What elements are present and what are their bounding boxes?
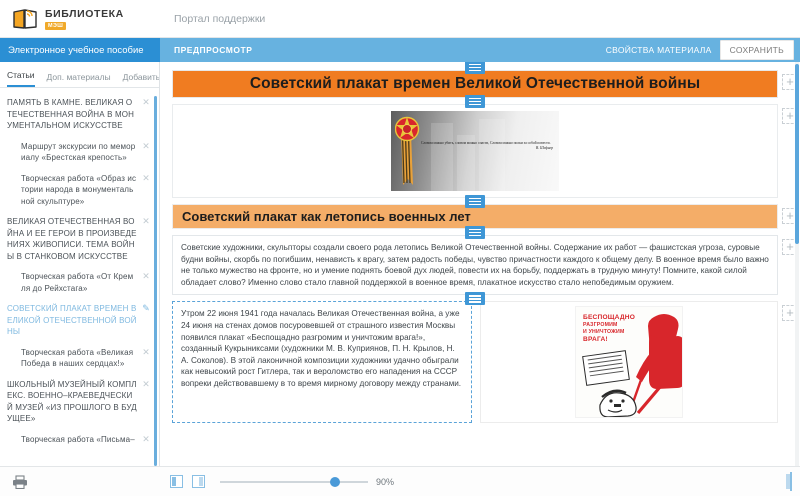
image-quote-source: В. Шефнер xyxy=(421,146,553,151)
close-icon[interactable]: ✕ xyxy=(141,173,151,183)
close-icon[interactable]: ✕ xyxy=(141,379,151,389)
preview-button[interactable]: ПРЕДПРОСМОТР xyxy=(174,45,252,55)
tree-item[interactable]: Творческая работа «Образ истории народа … xyxy=(7,173,153,208)
save-button[interactable]: СОХРАНИТЬ xyxy=(720,40,794,60)
poster-title-line-3: И УНИЧТОЖИМ xyxy=(583,329,624,335)
close-icon[interactable]: ✕ xyxy=(141,347,151,357)
block-menu-handle-icon[interactable] xyxy=(465,195,485,208)
section-label: Электронное учебное пособие xyxy=(0,38,160,62)
block-two-column[interactable]: Утром 22 июня 1941 года началась Великая… xyxy=(172,301,778,423)
treaty-paper xyxy=(582,350,630,386)
block-menu-handle-icon[interactable] xyxy=(465,95,485,108)
block-menu-handle-icon[interactable] xyxy=(465,292,485,305)
tree-item[interactable]: Творческая работа «Письма– ✕ xyxy=(7,434,153,446)
victory-banner-image: Словом можно убить, словом можно спасти,… xyxy=(391,111,559,191)
tree-item-label: ПАМЯТЬ В КАМНЕ. ВЕЛИКАЯ ОТЕЧЕСТВЕННАЯ ВО… xyxy=(7,97,137,132)
paragraph-1-text[interactable]: Советские художники, скульпторы создали … xyxy=(172,235,778,295)
tree-item[interactable]: ШКОЛЬНЫЙ МУЗЕЙНЫЙ КОМПЛЕКС. ВОЕННО–КРАЕВ… xyxy=(7,379,153,425)
block-paragraph-1[interactable]: Советские художники, скульпторы создали … xyxy=(172,235,778,295)
close-icon[interactable]: ✕ xyxy=(141,216,151,226)
single-page-view-icon[interactable] xyxy=(170,475,183,488)
image-quote-body: Словом можно убить, словом можно спасти,… xyxy=(421,141,551,145)
tree-item[interactable]: ПАМЯТЬ В КАМНЕ. ВЕЛИКАЯ ОТЕЧЕСТВЕННАЯ ВО… xyxy=(7,97,153,132)
bottom-main-tools: 90% xyxy=(160,475,790,488)
book-logo-icon xyxy=(12,6,38,32)
zoom-slider[interactable] xyxy=(220,481,368,483)
printer-icon[interactable] xyxy=(12,475,28,489)
tree-item-selected[interactable]: СОВЕТСКИЙ ПЛАКАТ ВРЕМЕН ВЕЛИКОЙ ОТЕЧЕСТВ… xyxy=(7,303,153,338)
block-heading-main[interactable]: Советский плакат времен Великой Отечеств… xyxy=(172,70,778,98)
tree-item-label: Творческая работа «От Кремля до Рейхстаг… xyxy=(21,271,137,294)
tree-item-label: ШКОЛЬНЫЙ МУЗЕЙНЫЙ КОМПЛЕКС. ВОЕННО–КРАЕВ… xyxy=(7,379,137,425)
brand-badge: МЭШ xyxy=(45,22,66,30)
block-menu-handle-icon[interactable] xyxy=(465,62,485,74)
close-icon[interactable]: ✕ xyxy=(141,271,151,281)
tree-item[interactable]: Маршрут экскурсии по мемориалу «Брестска… xyxy=(7,141,153,164)
app-root: БИБЛИОТЕКА МЭШ Портал поддержки Электрон… xyxy=(0,0,800,496)
tab-articles[interactable]: Статьи xyxy=(7,70,35,87)
support-portal-link[interactable]: Портал поддержки xyxy=(174,13,265,25)
sub-bar-actions: СВОЙСТВА МАТЕРИАЛА СОХРАНИТЬ xyxy=(606,40,794,60)
hitler-caricature xyxy=(592,385,644,417)
top-bar: БИБЛИОТЕКА МЭШ Портал поддержки xyxy=(0,0,800,38)
tree-item-label: Маршрут экскурсии по мемориалу «Брестска… xyxy=(21,141,137,164)
tree-item-label: Творческая работа «Письма– xyxy=(21,434,137,446)
poster-container[interactable]: БЕСПОЩАДНО РАЗГРОМИМ И УНИЧТОЖИМ ВРАГА! xyxy=(480,301,778,423)
block-menu-handle-icon[interactable] xyxy=(465,226,485,239)
sub-bar-actions-area: ПРЕДПРОСМОТР СВОЙСТВА МАТЕРИАЛА СОХРАНИТ… xyxy=(160,38,800,62)
article-tree: ПАМЯТЬ В КАМНЕ. ВЕЛИКАЯ ОТЕЧЕСТВЕННАЯ ВО… xyxy=(0,88,159,445)
editor-canvas: Советский плакат времен Великой Отечеств… xyxy=(160,62,800,466)
zoom-value: 90% xyxy=(376,477,394,487)
close-icon[interactable]: ✕ xyxy=(141,141,151,151)
heading-main-text[interactable]: Советский плакат времен Великой Отечеств… xyxy=(172,70,778,98)
tab-extra-materials[interactable]: Доп. материалы xyxy=(47,72,111,87)
close-icon[interactable]: ✕ xyxy=(141,97,151,107)
edit-pencil-icon[interactable]: ✎ xyxy=(141,303,151,313)
sub-bar: Электронное учебное пособие ПРЕДПРОСМОТР… xyxy=(0,38,800,62)
brand-text: БИБЛИОТЕКА МЭШ xyxy=(45,8,124,30)
zoom-control[interactable]: 90% xyxy=(220,477,394,487)
tab-add[interactable]: Добавить xyxy=(123,72,160,87)
block-image[interactable]: Словом можно убить, словом можно спасти,… xyxy=(172,104,778,198)
image-container[interactable]: Словом можно убить, словом можно спасти,… xyxy=(172,104,778,198)
tree-item[interactable]: Творческая работа «От Кремля до Рейхстаг… xyxy=(7,271,153,294)
canvas-scrollbar[interactable] xyxy=(795,64,799,244)
bottom-bar: 90% xyxy=(0,466,800,496)
material-properties-button[interactable]: СВОЙСТВА МАТЕРИАЛА xyxy=(606,45,712,55)
paragraph-2-text[interactable]: Утром 22 июня 1941 года началась Великая… xyxy=(172,301,472,423)
soviet-poster-image: БЕСПОЩАДНО РАЗГРОМИМ И УНИЧТОЖИМ ВРАГА! xyxy=(575,306,683,418)
order-of-victory-icon xyxy=(395,115,421,187)
bottom-right-tools xyxy=(790,473,800,491)
zoom-slider-handle[interactable] xyxy=(330,477,340,487)
image-quote-text: Словом можно убить, словом можно спасти,… xyxy=(421,141,553,151)
sidebar-scrollbar[interactable] xyxy=(154,96,157,466)
poster-title-line-2: РАЗГРОМИМ xyxy=(583,322,618,328)
sidebar: Статьи Доп. материалы Добавить ПАМЯТЬ В … xyxy=(0,62,160,466)
double-page-view-icon[interactable] xyxy=(192,475,205,488)
tree-item[interactable]: Творческая работа «Великая Победа в наши… xyxy=(7,347,153,370)
sidebar-tabs: Статьи Доп. материалы Добавить xyxy=(0,62,159,88)
tree-item-label: Творческая работа «Образ истории народа … xyxy=(21,173,137,208)
bottom-left-tools xyxy=(0,475,160,489)
panel-toggle-icon[interactable] xyxy=(790,472,792,491)
poster-title-line-4: ВРАГА! xyxy=(583,336,608,343)
tree-item-label: СОВЕТСКИЙ ПЛАКАТ ВРЕМЕН ВЕЛИКОЙ ОТЕЧЕСТВ… xyxy=(7,303,137,338)
close-icon[interactable]: ✕ xyxy=(141,434,151,444)
tree-item-label: ВЕЛИКАЯ ОТЕЧЕСТВЕННАЯ ВОЙНА И ЕЕ ГЕРОИ В… xyxy=(7,216,137,262)
tree-item-label: Творческая работа «Великая Победа в наши… xyxy=(21,347,137,370)
brand[interactable]: БИБЛИОТЕКА МЭШ xyxy=(0,6,160,32)
tree-item[interactable]: ВЕЛИКАЯ ОТЕЧЕСТВЕННАЯ ВОЙНА И ЕЕ ГЕРОИ В… xyxy=(7,216,153,262)
brand-title: БИБЛИОТЕКА xyxy=(45,8,124,20)
